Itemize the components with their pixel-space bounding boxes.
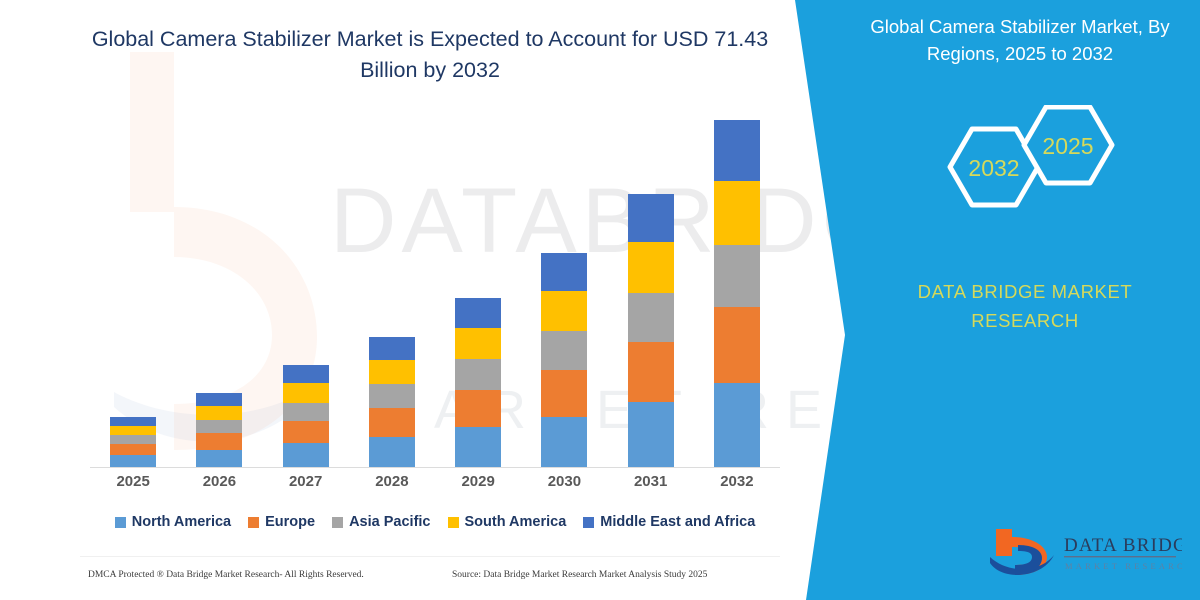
legend-item-south-america[interactable]: South America xyxy=(448,514,567,530)
bar-chart-plot xyxy=(90,120,780,467)
brand-panel-wordmark: DATA BRIDGE MARKET RESEARCH xyxy=(880,278,1170,335)
footer-divider xyxy=(80,556,780,557)
bar-segment[interactable] xyxy=(714,120,760,181)
legend-item-middle-east-and-africa[interactable]: Middle East and Africa xyxy=(583,514,755,530)
x-tick-2031: 2031 xyxy=(608,473,694,490)
bar-segment[interactable] xyxy=(369,337,415,360)
brand-panel-title: Global Camera Stabilizer Market, By Regi… xyxy=(846,14,1194,68)
stacked-bar[interactable] xyxy=(283,365,329,467)
logo-tagline: MARKET RESEARCH xyxy=(1065,561,1182,571)
bar-segment[interactable] xyxy=(196,393,242,406)
stacked-bar[interactable] xyxy=(455,298,501,467)
bar-segment[interactable] xyxy=(455,298,501,328)
bar-segment[interactable] xyxy=(110,426,156,435)
x-tick-2030: 2030 xyxy=(521,473,607,490)
bar-segment[interactable] xyxy=(283,443,329,467)
x-tick-2026: 2026 xyxy=(176,473,262,490)
stacked-bar[interactable] xyxy=(628,194,674,467)
bar-segment[interactable] xyxy=(369,437,415,467)
bar-segment[interactable] xyxy=(369,408,415,437)
hexagon-year-badges: 2032 2025 xyxy=(930,105,1130,230)
bar-segment[interactable] xyxy=(283,403,329,421)
infographic-canvas: DATABRIDGE MARKET RESEARCH Global Camera… xyxy=(0,0,1200,600)
legend-label: Asia Pacific xyxy=(349,514,430,530)
x-tick-2032: 2032 xyxy=(694,473,780,490)
bar-group-2030 xyxy=(521,120,607,467)
bar-segment[interactable] xyxy=(541,331,587,370)
bar-segment[interactable] xyxy=(196,420,242,433)
bar-segment[interactable] xyxy=(196,406,242,420)
stacked-bar[interactable] xyxy=(369,337,415,467)
bar-segment[interactable] xyxy=(369,360,415,384)
bar-group-2026 xyxy=(176,120,262,467)
bar-segment[interactable] xyxy=(110,444,156,455)
legend-label: South America xyxy=(465,514,567,530)
bar-segment[interactable] xyxy=(110,455,156,467)
x-tick-2029: 2029 xyxy=(435,473,521,490)
bar-segment[interactable] xyxy=(110,417,156,426)
bar-segment[interactable] xyxy=(541,417,587,467)
bar-segment[interactable] xyxy=(628,194,674,242)
bar-segment[interactable] xyxy=(196,450,242,467)
legend-label: North America xyxy=(132,514,231,530)
bar-segment[interactable] xyxy=(628,342,674,402)
bar-segment[interactable] xyxy=(110,435,156,444)
legend-item-europe[interactable]: Europe xyxy=(248,514,315,530)
stacked-bar[interactable] xyxy=(541,253,587,467)
x-axis-tick-labels: 20252026202720282029203020312032 xyxy=(90,473,780,490)
chart-legend: North AmericaEuropeAsia PacificSouth Ame… xyxy=(90,514,780,530)
stacked-bar[interactable] xyxy=(714,120,760,467)
bar-segment[interactable] xyxy=(714,307,760,383)
x-tick-2028: 2028 xyxy=(349,473,435,490)
legend-swatch-icon xyxy=(583,517,594,528)
hexagon-2032-label: 2032 xyxy=(968,155,1019,181)
legend-label: Middle East and Africa xyxy=(600,514,755,530)
hexagon-2025-label: 2025 xyxy=(1042,133,1093,159)
bar-segment[interactable] xyxy=(196,433,242,449)
bar-segment[interactable] xyxy=(455,390,501,427)
bar-group-2028 xyxy=(349,120,435,467)
legend-item-north-america[interactable]: North America xyxy=(115,514,231,530)
chart-panel: DATABRIDGE MARKET RESEARCH Global Camera… xyxy=(0,0,860,600)
legend-item-asia-pacific[interactable]: Asia Pacific xyxy=(332,514,430,530)
stacked-bar[interactable] xyxy=(110,417,156,467)
bar-segment[interactable] xyxy=(455,328,501,359)
bar-segment[interactable] xyxy=(628,402,674,467)
bar-segment[interactable] xyxy=(714,245,760,307)
axis-baseline xyxy=(90,467,780,468)
bar-segment[interactable] xyxy=(283,365,329,383)
brand-wordmark-line2: RESEARCH xyxy=(971,310,1079,331)
bar-group-2027 xyxy=(263,120,349,467)
bar-segment[interactable] xyxy=(628,293,674,342)
footer-source: Source: Data Bridge Market Research Mark… xyxy=(452,570,707,580)
bar-segment[interactable] xyxy=(541,253,587,291)
bar-segment[interactable] xyxy=(541,291,587,331)
legend-swatch-icon xyxy=(115,517,126,528)
logo-wordmark: DATA BRIDGE xyxy=(1064,535,1182,556)
stacked-bar[interactable] xyxy=(196,393,242,467)
bar-segment[interactable] xyxy=(455,359,501,390)
bar-group-2031 xyxy=(608,120,694,467)
bar-segment[interactable] xyxy=(455,427,501,467)
x-tick-2027: 2027 xyxy=(263,473,349,490)
bar-group-2025 xyxy=(90,120,176,467)
bar-segment[interactable] xyxy=(283,421,329,443)
bar-segment[interactable] xyxy=(714,383,760,467)
legend-swatch-icon xyxy=(332,517,343,528)
legend-swatch-icon xyxy=(248,517,259,528)
bar-segment[interactable] xyxy=(541,370,587,417)
bar-segment[interactable] xyxy=(369,384,415,408)
bar-segment[interactable] xyxy=(283,383,329,402)
data-bridge-logo: DATA BRIDGE MARKET RESEARCH xyxy=(982,523,1182,579)
legend-swatch-icon xyxy=(448,517,459,528)
legend-label: Europe xyxy=(265,514,315,530)
bar-group-2032 xyxy=(694,120,780,467)
bar-segment[interactable] xyxy=(628,242,674,293)
footer-copyright: DMCA Protected ® Data Bridge Market Rese… xyxy=(88,570,364,580)
bar-segment[interactable] xyxy=(714,181,760,245)
bar-group-2029 xyxy=(435,120,521,467)
x-tick-2025: 2025 xyxy=(90,473,176,490)
brand-wordmark-line1: DATA BRIDGE MARKET xyxy=(918,281,1133,302)
page-title: Global Camera Stabilizer Market is Expec… xyxy=(72,24,788,85)
